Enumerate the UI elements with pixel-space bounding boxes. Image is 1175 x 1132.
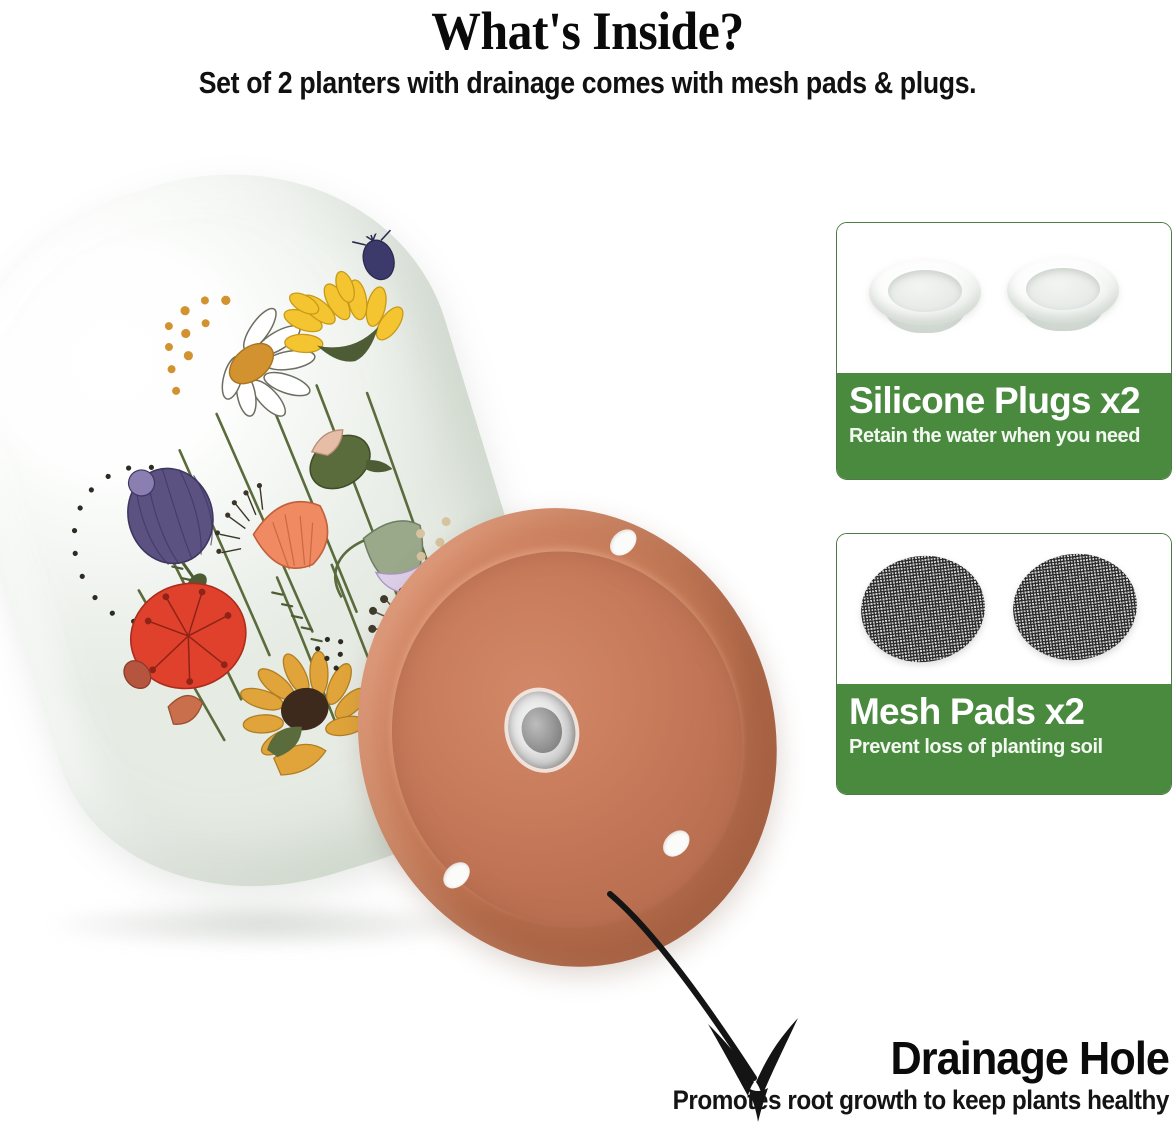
card-subtitle: Retain the water when you need <box>849 423 1159 448</box>
mesh-pad-icon <box>855 549 991 669</box>
drainage-hole-callout: Drainage Hole Promotes root growth to ke… <box>469 1033 1169 1116</box>
feature-card-mesh-pads: Mesh Pads x2 Prevent loss of planting so… <box>836 533 1172 795</box>
silicone-plugs-image <box>837 223 1171 373</box>
mesh-pads-image <box>837 534 1171 684</box>
product-photo <box>0 112 820 1012</box>
mesh-pad-icon <box>1007 547 1143 667</box>
card-caption: Silicone Plugs x2 Retain the water when … <box>837 373 1171 480</box>
callout-title: Drainage Hole <box>511 1033 1169 1083</box>
feature-card-silicone-plugs: Silicone Plugs x2 Retain the water when … <box>836 222 1172 480</box>
card-caption: Mesh Pads x2 Prevent loss of planting so… <box>837 684 1171 795</box>
page-subtitle: Set of 2 planters with drainage comes wi… <box>82 60 1093 100</box>
silicone-plug-icon <box>869 259 981 337</box>
header: What's Inside? Set of 2 planters with dr… <box>0 0 1175 112</box>
card-subtitle: Prevent loss of planting soil <box>849 734 1159 759</box>
silicone-plug-icon <box>1007 257 1119 335</box>
page-title: What's Inside? <box>47 0 1128 60</box>
card-title: Mesh Pads x2 <box>849 690 1159 734</box>
callout-subtitle: Promotes root growth to keep plants heal… <box>539 1083 1169 1116</box>
card-title: Silicone Plugs x2 <box>849 379 1159 423</box>
